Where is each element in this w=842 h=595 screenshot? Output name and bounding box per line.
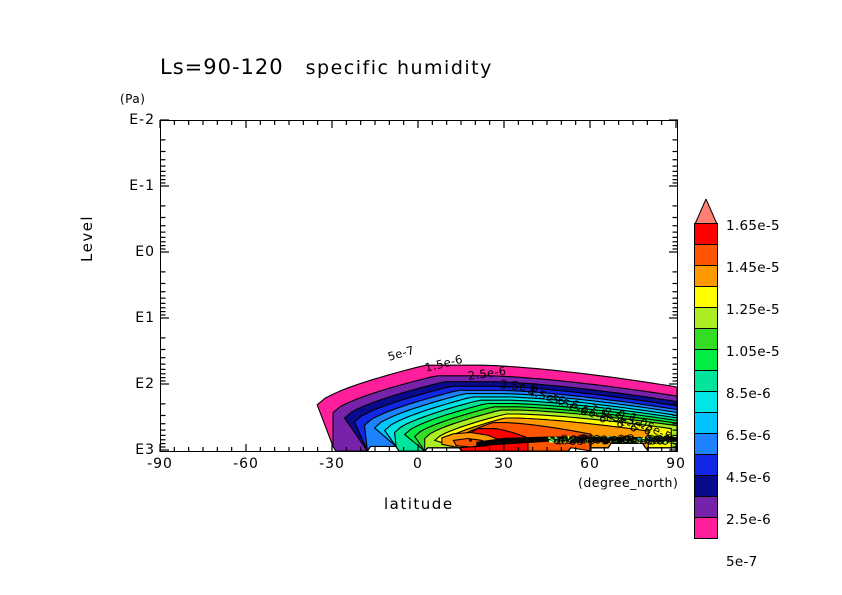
x-tick-label: 90	[666, 456, 686, 472]
x-tick-label: -60	[233, 456, 259, 472]
colorbar-band	[694, 412, 718, 434]
colorbar-tick-label: 4.5e-6	[726, 470, 771, 486]
y-tick-label: E1	[135, 310, 155, 326]
colorbar-band	[694, 223, 718, 245]
y-tick-label: E-1	[129, 178, 155, 194]
colorbar	[694, 224, 718, 539]
x-tick-label: 0	[413, 456, 423, 472]
colorbar-band	[694, 286, 718, 308]
y-tick-label: E-2	[129, 112, 155, 128]
x-tick-label: 60	[580, 456, 600, 472]
x-tick-label: -30	[319, 456, 345, 472]
colorbar-band	[694, 391, 718, 413]
x-tick-label: 30	[494, 456, 514, 472]
colorbar-band	[694, 433, 718, 455]
figure-root: Ls=90-120specific humidity (Pa) (degree_…	[0, 0, 842, 595]
colorbar-band	[694, 265, 718, 287]
colorbar-band	[694, 496, 718, 518]
colorbar-tick-label: 6.5e-6	[726, 428, 771, 444]
colorbar-arrow-icon	[694, 199, 718, 225]
colorbar-band	[694, 475, 718, 497]
colorbar-tick-label: 5e-7	[726, 554, 758, 570]
colorbar-band	[694, 244, 718, 266]
colorbar-band	[694, 349, 718, 371]
colorbar-tick-label: 2.5e-6	[726, 512, 771, 528]
colorbar-tick-label: 1.05e-5	[726, 344, 780, 360]
colorbar-band	[694, 307, 718, 329]
colorbar-band	[694, 454, 718, 476]
y-tick-label: E2	[135, 376, 155, 392]
x-tick-label: -90	[147, 456, 173, 472]
y-tick-label: E0	[135, 244, 155, 260]
colorbar-band	[694, 328, 718, 350]
y-tick-label: E3	[135, 442, 155, 458]
colorbar-tick-label: 1.45e-5	[726, 260, 780, 276]
colorbar-tick-label: 1.65e-5	[726, 218, 780, 234]
colorbar-arrow-shape	[695, 199, 717, 224]
colorbar-tick-label: 1.25e-5	[726, 302, 780, 318]
colorbar-band	[694, 370, 718, 392]
colorbar-band	[694, 517, 718, 539]
colorbar-tick-label: 8.5e-6	[726, 386, 771, 402]
